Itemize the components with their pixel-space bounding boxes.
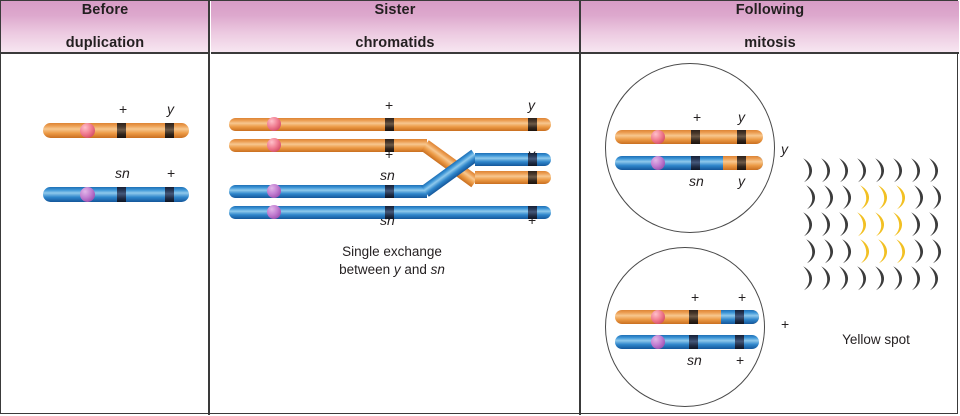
bristle-dark [912,238,925,264]
bristle-dark [801,157,814,183]
bristle-dark [804,238,817,264]
cell-top-orange-allele-proximal: + [693,109,701,125]
gene-band [165,123,174,138]
col1-orange-allele-proximal: + [119,101,127,117]
bristle-dark [840,184,853,210]
bristle-dark [855,157,868,183]
bristle-dark [930,238,943,264]
header-following-mitosis: Following mitosis [581,1,959,54]
bristle-yellow [855,211,868,237]
bristle-dark [891,265,904,291]
gene-band [735,335,744,349]
gene-band [117,123,126,138]
gene-band [691,130,700,144]
gene-band [385,206,394,219]
col2-chromatid3-allele-proximal: sn [380,167,395,183]
gene-band [689,335,698,349]
col2-caption-line2-mid: and [401,262,431,277]
centromere-icon [651,310,665,324]
bristle-dark [822,184,835,210]
chromatid-body-left [229,139,427,152]
cell-top-blue-allele-distal: y [738,173,745,189]
daughter-cell-top-phenotype-label: y [781,141,788,157]
bristle-dark [801,211,814,237]
header-sister-chromatids-line1: Sister [355,2,434,18]
gene-band [385,139,394,152]
bristle-yellow [876,238,889,264]
chromatid-body-right [475,153,551,166]
centromere-icon [651,130,665,144]
bristle-yellow [873,211,886,237]
bristle-dark [909,211,922,237]
crossing-over-figure: Before duplication Sister chromatids Fol… [0,0,958,414]
daughter-cell-bottom [605,247,765,407]
centromere-icon [267,205,281,219]
col2-chromatid1-allele-distal: y [528,97,535,113]
header-sister-chromatids-line2: chromatids [355,35,434,51]
bristle-dark [804,184,817,210]
header-before-duplication-line1: Before [66,2,144,18]
yellow-spot-caption: Yellow spot [801,331,951,349]
gene-band [737,130,746,144]
bristle-dark [927,157,940,183]
cell-bottom-orange-allele-proximal: + [691,289,699,305]
bristle-dark [840,238,853,264]
daughter-cell-bottom-phenotype-label: + [781,316,789,332]
bristle-yellow [894,184,907,210]
bristle-dark [912,184,925,210]
bristle-dark [837,211,850,237]
centromere-icon [80,123,95,138]
bristle-dark [927,211,940,237]
gene-band [528,171,537,184]
gene-band [689,310,698,324]
centromere-icon [267,117,281,131]
cell-top-blue-allele-proximal: sn [689,173,704,189]
header-sister-chromatids: Sister chromatids [211,1,579,54]
header-before-duplication-line2: duplication [66,35,144,51]
bristle-yellow [858,238,871,264]
col2-caption-gene1: y [394,262,401,277]
col1-orange-allele-distal: y [167,101,174,117]
col2-caption-gene2: sn [431,262,445,277]
bristle-yellow [891,211,904,237]
bristle-dark [873,265,886,291]
cell-bottom-orange-allele-distal: + [738,289,746,305]
gene-band [528,153,537,166]
col2-chromatid1-allele-proximal: + [385,97,393,113]
col1-blue-allele-distal: + [167,165,175,181]
centromere-icon [267,138,281,152]
bristle-dark [927,265,940,291]
header-before-duplication: Before duplication [1,1,209,54]
bristle-dark [891,157,904,183]
header-following-mitosis-line2: mitosis [736,35,805,51]
bristle-dark [909,157,922,183]
header-following-mitosis-line1: Following [736,2,805,18]
bristle-dark [819,157,832,183]
daughter-cell-top [605,63,775,233]
gene-band [385,185,394,198]
header-row: Before duplication Sister chromatids Fol… [1,1,957,54]
cell-bottom-blue-allele-proximal: sn [687,352,702,368]
column-divider-2 [579,1,581,415]
column-divider-1 [208,1,210,415]
centromere-icon [80,187,95,202]
bristle-dark [909,265,922,291]
col2-caption-line1: Single exchange [342,244,442,259]
bristle-yellow [858,184,871,210]
gene-band [117,187,126,202]
gene-band [691,156,700,170]
cell-top-orange-allele-distal: y [738,109,745,125]
bristle-yellow [894,238,907,264]
chromatid-body-left [229,185,427,198]
centromere-icon [651,156,665,170]
centromere-icon [651,335,665,349]
gene-band [528,118,537,131]
bristle-dark [822,238,835,264]
chromatid-body-right [475,171,551,184]
col1-blue-allele-proximal: sn [115,165,130,181]
gene-band [735,310,744,324]
bristle-dark [819,265,832,291]
bristle-patch [801,157,951,302]
bristle-dark [819,211,832,237]
bristle-dark [801,265,814,291]
cell-bottom-blue-allele-distal: + [736,352,744,368]
gene-band [385,118,394,131]
bristle-dark [837,157,850,183]
gene-band [528,206,537,219]
bristle-dark [855,265,868,291]
bristle-dark [930,184,943,210]
gene-band [737,156,746,170]
bristle-dark [837,265,850,291]
gene-band [165,187,174,202]
col2-caption: Single exchange between y and sn [287,243,497,279]
centromere-icon [267,184,281,198]
col2-caption-line2-pre: between [339,262,394,277]
bristle-dark [873,157,886,183]
bristle-yellow [876,184,889,210]
